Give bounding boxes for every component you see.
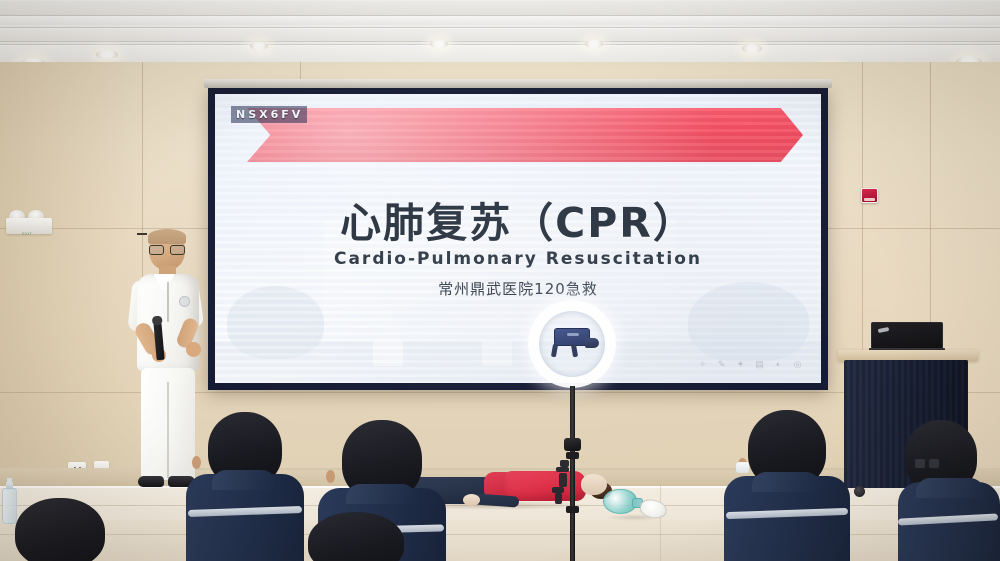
emergency-exit-light: EXIT bbox=[6, 210, 52, 234]
audience-member-5 bbox=[6, 498, 114, 561]
more-options-icon[interactable]: ◎ bbox=[792, 359, 803, 370]
training-room-photo: EXIT NSX6FV 心肺复苏（CPR） Cardio-Pulmonary R… bbox=[0, 0, 1000, 561]
audience-head bbox=[15, 498, 105, 561]
tripod-upper-column bbox=[570, 386, 575, 444]
ceiling-light-strip bbox=[0, 16, 1000, 25]
audience-collar bbox=[212, 470, 276, 490]
ring-light bbox=[528, 300, 618, 561]
presenter-right-hand bbox=[186, 342, 201, 357]
emergency-light-label: EXIT bbox=[22, 231, 32, 236]
fire-alarm-pull-station[interactable] bbox=[861, 188, 878, 203]
audience-ear bbox=[326, 470, 335, 483]
presenter-trouser-seam bbox=[167, 382, 169, 478]
ceiling-slab-mid bbox=[0, 28, 1000, 42]
audience-ear bbox=[192, 456, 201, 469]
recessed-downlight bbox=[430, 40, 448, 48]
tripod-hub bbox=[564, 438, 581, 451]
eyeglasses-bridge bbox=[137, 233, 147, 235]
slide-photo-pillar bbox=[482, 317, 512, 366]
emergency-light-body: EXIT bbox=[6, 218, 52, 234]
slide-watermark: NSX6FV bbox=[231, 106, 307, 123]
ceiling-slab-upper bbox=[0, 0, 1000, 16]
audience-head bbox=[308, 512, 404, 561]
presenter-shirt-placket bbox=[167, 282, 169, 322]
face-mask-icon bbox=[736, 462, 749, 473]
laptop[interactable] bbox=[871, 322, 943, 352]
ring-light-remote[interactable] bbox=[585, 338, 599, 348]
presenter-left-shoe bbox=[138, 476, 164, 487]
slide-photo-pillar bbox=[373, 317, 403, 366]
projected-slide: NSX6FV 心肺复苏（CPR） Cardio-Pulmonary Resusc… bbox=[215, 94, 821, 383]
slide-title-chinese: 心肺复苏（CPR） bbox=[215, 202, 821, 245]
audience-member-1 bbox=[186, 412, 304, 561]
eyeglasses-icon bbox=[914, 458, 940, 467]
slide-title-block: 心肺复苏（CPR） Cardio-Pulmonary Resuscitation… bbox=[215, 202, 821, 299]
presenter-badge bbox=[179, 296, 190, 307]
slide-subtitle: 常州鼎武医院120急救 bbox=[215, 278, 821, 299]
slide-title-english: Cardio-Pulmonary Resuscitation bbox=[215, 249, 821, 269]
presenter-toolbar[interactable]: ✧ ✎ ✦ ▤ ◐ ◎ bbox=[697, 359, 803, 370]
recessed-downlight bbox=[250, 42, 268, 50]
presenter-hair bbox=[148, 229, 186, 244]
projection-screen-frame: NSX6FV 心肺复苏（CPR） Cardio-Pulmonary Resusc… bbox=[208, 88, 828, 390]
floor-seam bbox=[0, 534, 1000, 535]
tripod-collar[interactable] bbox=[566, 506, 579, 513]
grid-view-icon[interactable]: ▤ bbox=[754, 359, 765, 370]
laptop-logo bbox=[878, 327, 890, 333]
recessed-downlight bbox=[585, 40, 603, 48]
audience-member-4 bbox=[898, 420, 1000, 561]
floor-lower bbox=[0, 520, 1000, 561]
recessed-downlight bbox=[96, 50, 118, 59]
lectern-caster bbox=[854, 486, 865, 497]
audience-collar bbox=[346, 484, 416, 504]
tripod-cable-clip bbox=[546, 460, 572, 506]
highlighter-icon[interactable]: ✦ bbox=[735, 359, 746, 370]
slide-red-banner bbox=[247, 108, 803, 162]
eyeglasses-icon bbox=[149, 245, 185, 253]
audience-collar bbox=[916, 478, 984, 498]
pointer-icon[interactable]: ✧ bbox=[697, 359, 708, 370]
audience-collar bbox=[752, 472, 820, 492]
mannequin-hand bbox=[463, 494, 480, 506]
pen-icon[interactable]: ✎ bbox=[716, 359, 727, 370]
recessed-downlight bbox=[742, 44, 762, 53]
ceiling-slab-lower bbox=[0, 45, 1000, 63]
spotlight-icon[interactable]: ◐ bbox=[773, 359, 784, 370]
tripod-collar[interactable] bbox=[566, 452, 579, 459]
audience-member-3 bbox=[724, 410, 850, 561]
laptop-screen bbox=[871, 322, 943, 349]
audience-member-6 bbox=[300, 512, 412, 561]
